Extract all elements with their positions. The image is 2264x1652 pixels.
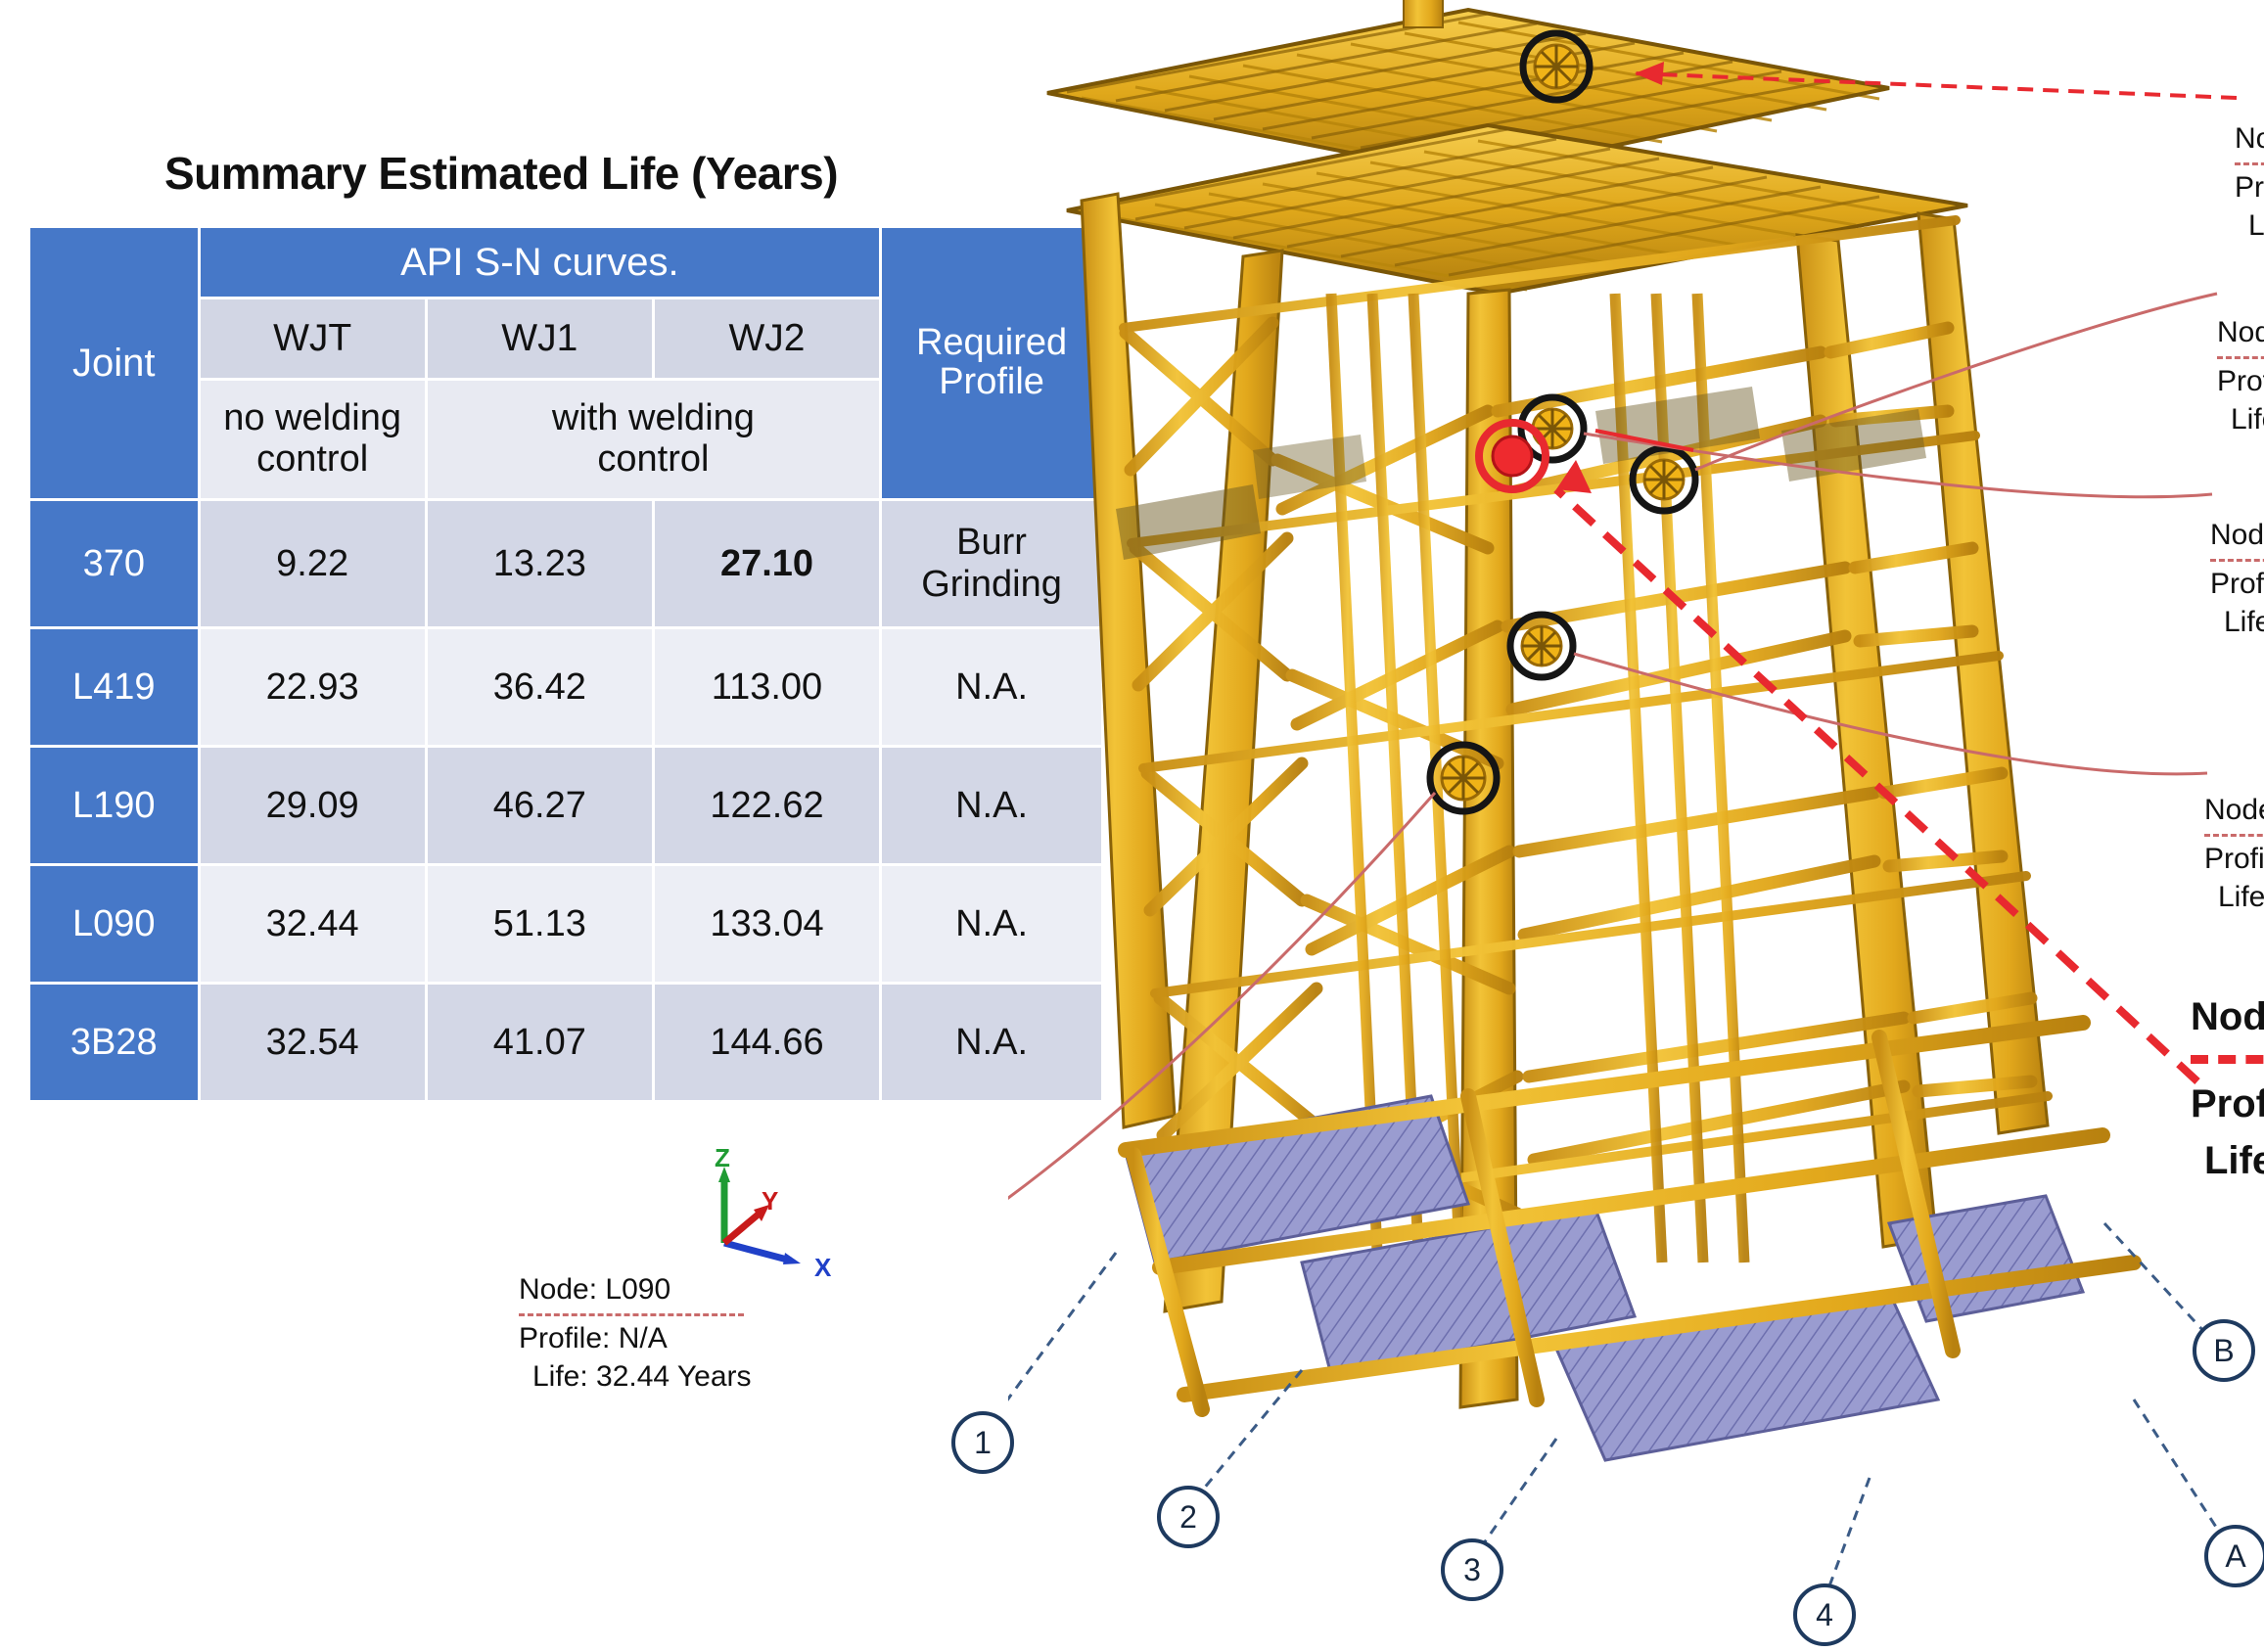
jacket-3d-model xyxy=(1008,0,2264,1652)
page-title: Summary Estimated Life (Years) xyxy=(164,147,1114,200)
axis-label-z: Z xyxy=(715,1143,730,1173)
row-header-joint: 3B28 xyxy=(30,985,198,1100)
with-welding-control-line2: control xyxy=(597,438,709,480)
jacket-structure-view: 1 2 3 4 B A Z Y X Node: 3B28 Profile: N/… xyxy=(1008,0,2264,1652)
no-welding-control-line2: control xyxy=(256,438,368,480)
cell-wjt: 32.44 xyxy=(201,866,425,982)
axis-triad-icon xyxy=(685,1155,812,1272)
callout-l090: Node: L090 Profile: N/A Life: 32.44 Year… xyxy=(519,1270,752,1397)
cell-wj2: 122.62 xyxy=(655,748,879,863)
callout-3b28: Node: 3B28 Profile: N/A Life: 32.54 Year… xyxy=(2235,119,2264,246)
callout-profile-label: Profile: Burr Grinding xyxy=(2191,1076,2264,1132)
table-row: 3B28 32.54 41.07 144.66 N.A. xyxy=(30,985,1101,1100)
cell-wj2: 27.10 xyxy=(655,501,879,626)
grid-label-b: B xyxy=(2193,1319,2255,1382)
callout-profile-label: Profile: N/A xyxy=(2210,565,2264,604)
callout-profile-label: Profile: N/A xyxy=(2235,168,2264,207)
callout-node-label: Node: L190 xyxy=(2204,791,2264,830)
callout-divider xyxy=(2235,162,2264,165)
summary-table-panel: Summary Estimated Life (Years) Joint API… xyxy=(27,147,1114,1103)
table-header-row-1: Joint API S-N curves. Required Profile xyxy=(30,228,1101,297)
callout-profile-label: Profile: N/A xyxy=(2204,840,2264,879)
cell-wj2: 144.66 xyxy=(655,985,879,1100)
cell-wjt: 32.54 xyxy=(201,985,425,1100)
column-header-joint: Joint xyxy=(30,228,198,498)
table-row: 370 9.22 13.23 27.10 Burr Grinding xyxy=(30,501,1101,626)
axis-label-y: Y xyxy=(762,1186,778,1216)
callout-life-label: Life: 48.89 Years xyxy=(2210,603,2264,642)
callout-divider xyxy=(2191,1055,2264,1064)
grid-label-a: A xyxy=(2204,1525,2264,1587)
column-header-wj1: WJ1 xyxy=(428,299,652,378)
table-row: L190 29.09 46.27 122.62 N.A. xyxy=(30,748,1101,863)
column-subheader-with-welding-control: with welding control xyxy=(428,381,879,498)
callout-l190: Node: L190 Profile: N/A Life: 29.09 Year… xyxy=(2204,791,2264,917)
callout-life-label: Life: 27.1 Years xyxy=(2191,1132,2264,1189)
cell-wjt: 9.22 xyxy=(201,501,425,626)
callout-divider xyxy=(2210,559,2264,562)
with-welding-control-line1: with welding xyxy=(552,397,755,438)
callout-node-label: Node: 3B28 xyxy=(2235,119,2264,159)
callout-node-label: Node: L090 xyxy=(519,1270,752,1309)
cell-wj1: 36.42 xyxy=(428,629,652,745)
row-header-joint: L090 xyxy=(30,866,198,982)
table-row: L419 22.93 36.42 113.00 N.A. xyxy=(30,629,1101,745)
column-group-header-api-sn-curves: API S-N curves. xyxy=(201,228,880,297)
callout-divider xyxy=(519,1313,744,1316)
vent-stack xyxy=(1404,0,1443,27)
cell-wj1: 51.13 xyxy=(428,866,652,982)
callout-node-label: Node: 370 xyxy=(2191,988,2264,1045)
callout-node-label: Node: L419 xyxy=(2217,313,2264,352)
grid-label-2: 2 xyxy=(1157,1486,1220,1548)
cell-wjt: 22.93 xyxy=(201,629,425,745)
callout-life-label: Life: 32.44 Years xyxy=(519,1357,752,1397)
cell-wj2: 113.00 xyxy=(655,629,879,745)
callout-370-main: Node: 370 Profile: Burr Grinding Life: 2… xyxy=(2191,988,2264,1189)
cell-wj2: 133.04 xyxy=(655,866,879,982)
callout-divider xyxy=(2217,356,2264,359)
callout-node-label: Node: 372 xyxy=(2210,516,2264,555)
cell-wj1: 46.27 xyxy=(428,748,652,863)
row-header-joint: L419 xyxy=(30,629,198,745)
cell-wjt: 29.09 xyxy=(201,748,425,863)
column-subheader-no-welding-control: no welding control xyxy=(201,381,425,498)
callout-l419: Node: L419 Profile: N/A Life: 22.93 Year… xyxy=(2217,313,2264,439)
cell-wj1: 13.23 xyxy=(428,501,652,626)
column-header-wjt: WJT xyxy=(201,299,425,378)
estimated-life-table: Joint API S-N curves. Required Profile W… xyxy=(27,225,1104,1103)
callout-372: Node: 372 Profile: N/A Life: 48.89 Years xyxy=(2210,516,2264,642)
axis-label-x: X xyxy=(814,1253,831,1283)
callout-profile-label: Profile: N/A xyxy=(2217,362,2264,401)
grid-label-4: 4 xyxy=(1793,1583,1856,1646)
table-row: L090 32.44 51.13 133.04 N.A. xyxy=(30,866,1101,982)
cell-wj1: 41.07 xyxy=(428,985,652,1100)
callout-life-label: Life: 29.09 Years xyxy=(2204,878,2264,917)
grid-label-3: 3 xyxy=(1441,1538,1503,1601)
row-header-joint: L190 xyxy=(30,748,198,863)
callout-profile-label: Profile: N/A xyxy=(519,1319,752,1358)
grid-label-1: 1 xyxy=(951,1411,1014,1474)
callout-divider xyxy=(2204,834,2264,837)
no-welding-control-line1: no welding xyxy=(223,397,401,438)
callout-life-label: Life: 22.93 Years xyxy=(2217,400,2264,439)
row-header-joint: 370 xyxy=(30,501,198,626)
callout-profile-prefix: Profile: xyxy=(2191,1082,2264,1125)
callout-life-label: Life: 32.54 Years xyxy=(2235,206,2264,246)
column-header-wj2: WJ2 xyxy=(655,299,879,378)
